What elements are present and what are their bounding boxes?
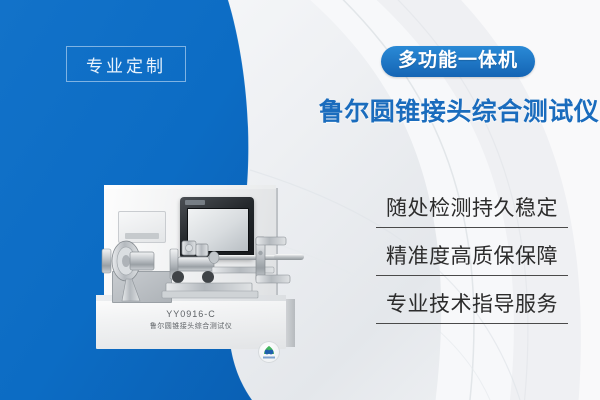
feature-divider [376,227,568,228]
list-item: 专业技术指导服务 [372,286,572,324]
feature-divider [376,323,568,324]
rotary-wheel-assembly [102,241,154,301]
product-photo: YY0916-C 鲁尔圆锥接头综合测试仪 [96,185,296,385]
feature-list: 随处检测持久稳定 精准度高质保保障 专业技术指导服务 [372,190,572,334]
custom-made-badge: 专业定制 [66,46,186,82]
feature-label: 随处检测持久稳定 [372,190,572,227]
hmi-brand-mark [185,200,205,205]
promo-banner: 专业定制 多功能一体机 鲁尔圆锥接头综合测试仪 随处检测持久稳定 精准度高质保保… [0,0,600,400]
test-mechanism [96,231,306,311]
page-title: 鲁尔圆锥接头综合测试仪 [318,92,600,128]
list-item: 随处检测持久稳定 [372,190,572,228]
model-number: YY0916-C [96,309,286,319]
feature-divider [376,275,568,276]
manufacturer-logo [258,341,280,363]
model-name: 鲁尔圆锥接头综合测试仪 [96,321,286,331]
feature-label: 专业技术指导服务 [372,286,572,323]
multifunction-pill-badge: 多功能一体机 [381,46,535,77]
machine-front-label: YY0916-C 鲁尔圆锥接头综合测试仪 [96,309,286,331]
feature-label: 精准度高质保保障 [372,238,572,275]
list-item: 精准度高质保保障 [372,238,572,276]
custom-made-badge-label: 专业定制 [86,52,166,77]
cabinet-top-edge [104,185,276,189]
multifunction-pill-label: 多功能一体机 [398,50,518,71]
push-rod-assembly [208,237,304,283]
